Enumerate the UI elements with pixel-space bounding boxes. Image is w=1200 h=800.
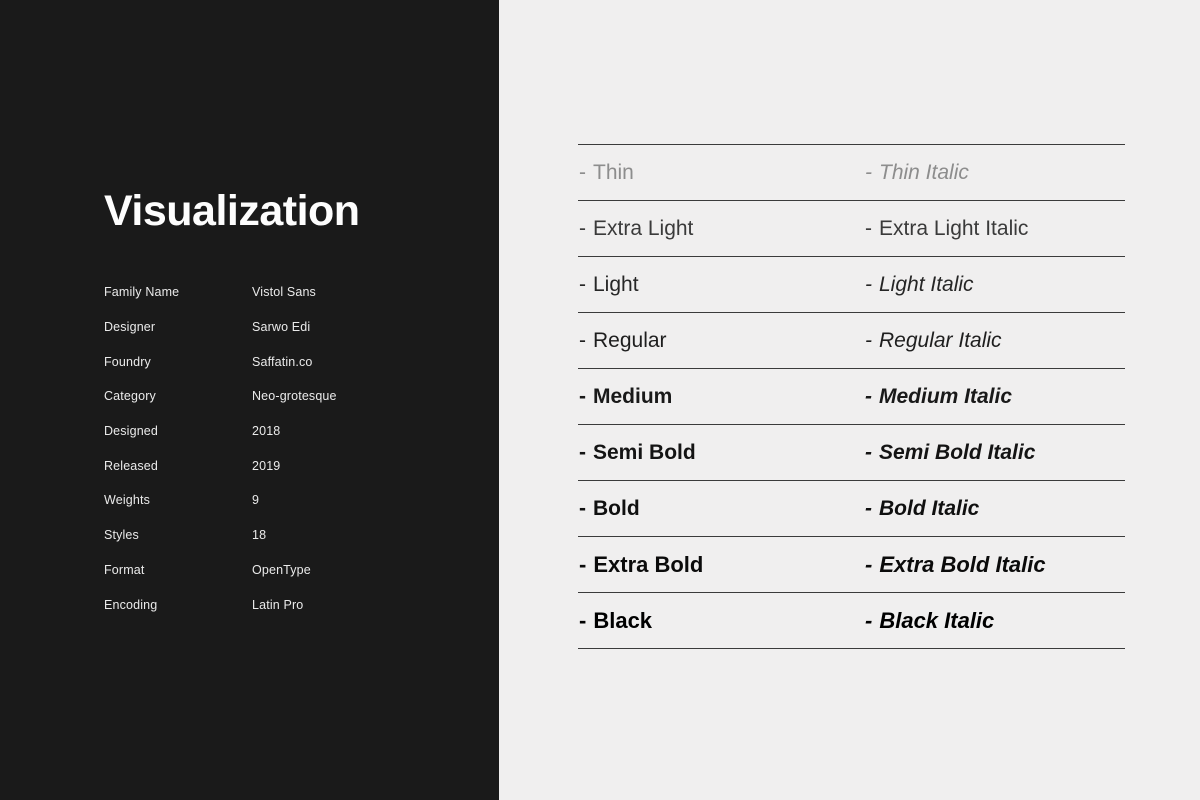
list-item: -Black -Black Italic xyxy=(578,592,1125,648)
list-item: -Regular -Regular Italic xyxy=(578,312,1125,368)
font-weights-list: -Thin -Thin Italic -Extra Light -Extra L… xyxy=(578,144,1125,649)
metadata-value: 2019 xyxy=(252,459,280,473)
weight-name: Thin xyxy=(593,161,634,184)
metadata-value: OpenType xyxy=(252,563,311,577)
bullet-dash: - xyxy=(579,217,586,241)
weight-italic-label: -Bold Italic xyxy=(865,497,979,521)
weight-italic-label: -Semi Bold Italic xyxy=(865,441,1035,465)
weight-italic-label: -Medium Italic xyxy=(865,385,1012,409)
metadata-value: 18 xyxy=(252,528,266,542)
metadata-label: Styles xyxy=(104,528,252,542)
weight-italic-label: -Thin Italic xyxy=(865,161,969,185)
list-item: -Thin -Thin Italic xyxy=(578,144,1125,200)
left-dark-panel: Visualization Family Name Vistol Sans De… xyxy=(0,0,499,800)
weight-name: Thin Italic xyxy=(879,161,969,184)
metadata-label: Category xyxy=(104,389,252,403)
bullet-dash: - xyxy=(579,552,586,578)
weight-name: Extra Light Italic xyxy=(879,217,1028,240)
weight-upright-label: -Semi Bold xyxy=(579,441,696,465)
metadata-value: Saffatin.co xyxy=(252,355,313,369)
weight-upright-label: -Light xyxy=(579,273,639,297)
metadata-label: Designed xyxy=(104,424,252,438)
table-row: Format OpenType xyxy=(104,553,444,588)
weight-name: Extra Bold xyxy=(593,552,703,577)
weight-name: Light xyxy=(593,273,639,296)
weight-name: Semi Bold xyxy=(593,441,696,464)
weight-upright-label: -Thin xyxy=(579,161,634,185)
weight-name: Semi Bold Italic xyxy=(879,441,1035,464)
table-row: Encoding Latin Pro xyxy=(104,587,444,622)
bullet-dash: - xyxy=(865,161,872,185)
font-specimen-page: Visualization Family Name Vistol Sans De… xyxy=(0,0,1200,800)
weight-name: Black Italic xyxy=(879,608,994,633)
weight-name: Extra Light xyxy=(593,217,693,240)
bullet-dash: - xyxy=(865,217,872,241)
bullet-dash: - xyxy=(865,552,872,578)
bullet-dash: - xyxy=(579,608,586,634)
bullet-dash: - xyxy=(579,441,586,465)
metadata-value: 2018 xyxy=(252,424,280,438)
weight-italic-label: -Extra Bold Italic xyxy=(865,552,1046,578)
table-row: Designer Sarwo Edi xyxy=(104,310,444,345)
table-row: Weights 9 xyxy=(104,483,444,518)
weight-name: Medium Italic xyxy=(879,385,1012,408)
metadata-value: Sarwo Edi xyxy=(252,320,310,334)
font-metadata-table: Family Name Vistol Sans Designer Sarwo E… xyxy=(104,275,444,622)
table-row: Designed 2018 xyxy=(104,414,444,449)
weight-upright-label: -Regular xyxy=(579,329,667,353)
right-specimen-panel: -Thin -Thin Italic -Extra Light -Extra L… xyxy=(499,0,1200,800)
weight-upright-label: -Medium xyxy=(579,385,672,409)
list-item: -Semi Bold -Semi Bold Italic xyxy=(578,424,1125,480)
metadata-label: Released xyxy=(104,459,252,473)
table-row: Category Neo-grotesque xyxy=(104,379,444,414)
weight-name: Bold xyxy=(593,497,640,520)
bullet-dash: - xyxy=(579,161,586,185)
metadata-label: Designer xyxy=(104,320,252,334)
bullet-dash: - xyxy=(579,329,586,353)
metadata-value: 9 xyxy=(252,493,259,507)
weight-name: Extra Bold Italic xyxy=(879,552,1045,577)
metadata-value: Neo-grotesque xyxy=(252,389,337,403)
bullet-dash: - xyxy=(865,497,872,521)
weight-name: Regular Italic xyxy=(879,329,1002,352)
metadata-label: Weights xyxy=(104,493,252,507)
list-item: -Medium -Medium Italic xyxy=(578,368,1125,424)
bullet-dash: - xyxy=(579,385,586,409)
page-title: Visualization xyxy=(104,190,360,233)
weight-upright-label: -Black xyxy=(579,608,652,634)
weight-italic-label: -Regular Italic xyxy=(865,329,1002,353)
list-item: -Light -Light Italic xyxy=(578,256,1125,312)
metadata-label: Family Name xyxy=(104,285,252,299)
weight-name: Bold Italic xyxy=(879,497,979,520)
metadata-label: Foundry xyxy=(104,355,252,369)
table-row: Foundry Saffatin.co xyxy=(104,344,444,379)
metadata-value: Latin Pro xyxy=(252,598,303,612)
weight-upright-label: -Extra Bold xyxy=(579,552,703,578)
bullet-dash: - xyxy=(865,273,872,297)
weight-name: Regular xyxy=(593,329,667,352)
metadata-label: Encoding xyxy=(104,598,252,612)
weight-upright-label: -Bold xyxy=(579,497,640,521)
list-item: -Extra Bold -Extra Bold Italic xyxy=(578,536,1125,592)
weight-italic-label: -Light Italic xyxy=(865,273,974,297)
metadata-label: Format xyxy=(104,563,252,577)
bullet-dash: - xyxy=(865,608,872,634)
table-row: Released 2019 xyxy=(104,448,444,483)
bullet-dash: - xyxy=(579,273,586,297)
weight-italic-label: -Extra Light Italic xyxy=(865,217,1028,241)
list-item: -Extra Light -Extra Light Italic xyxy=(578,200,1125,256)
bullet-dash: - xyxy=(579,497,586,521)
bullet-dash: - xyxy=(865,329,872,353)
bullet-dash: - xyxy=(865,441,872,465)
table-row: Family Name Vistol Sans xyxy=(104,275,444,310)
metadata-value: Vistol Sans xyxy=(252,285,316,299)
weight-italic-label: -Black Italic xyxy=(865,608,994,634)
list-item: -Bold -Bold Italic xyxy=(578,480,1125,536)
weight-name: Medium xyxy=(593,385,672,408)
table-row: Styles 18 xyxy=(104,518,444,553)
weight-upright-label: -Extra Light xyxy=(579,217,693,241)
bullet-dash: - xyxy=(865,385,872,409)
weight-name: Black xyxy=(593,608,652,633)
weight-name: Light Italic xyxy=(879,273,974,296)
